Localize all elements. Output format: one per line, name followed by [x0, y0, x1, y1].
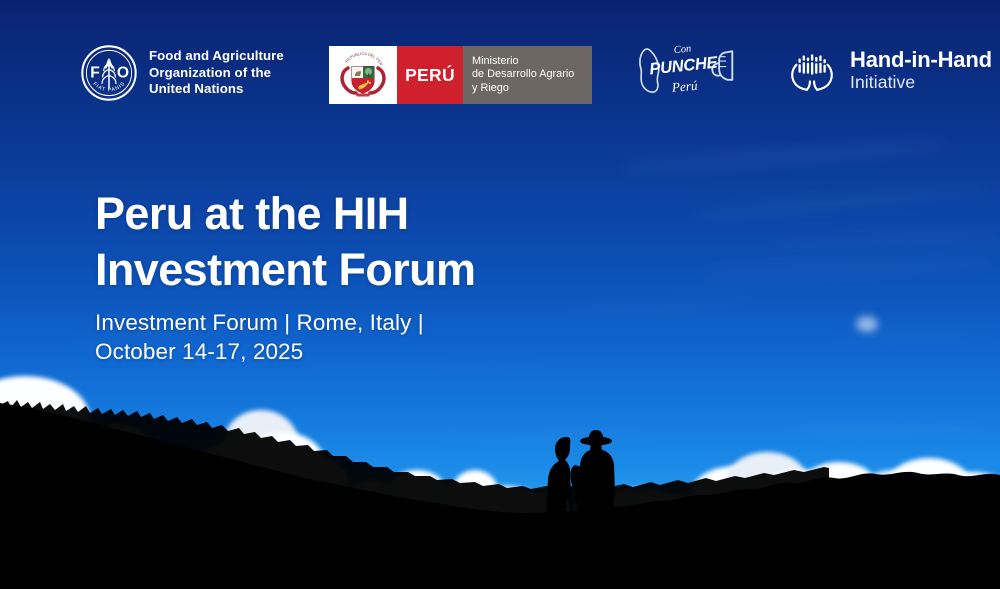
hero-text-block: Peru at the HIH Investment Forum Investm…: [95, 186, 655, 366]
punche-line3: Perú: [670, 78, 698, 95]
poster-banner: F A O FIAT PANIS Food and Agriculture Or…: [0, 0, 1000, 589]
svg-text:A: A: [104, 56, 113, 71]
page-title: Peru at the HIH Investment Forum: [95, 186, 655, 298]
peru-coat-of-arms: REPUBLICA DEL PERU: [335, 50, 391, 100]
logo-con-punche-peru[interactable]: Con PUNCHE Perú: [630, 38, 740, 104]
con-punche-peru-mark: Con PUNCHE Perú: [630, 38, 740, 104]
svg-text:O: O: [117, 65, 129, 82]
silhouette-person-with-bag: [539, 437, 574, 551]
silhouette-figures: [0, 389, 1000, 589]
logo-minagri[interactable]: REPUBLICA DEL PERU: [329, 46, 592, 104]
logo-fao[interactable]: F A O FIAT PANIS Food and Agriculture Or…: [80, 44, 284, 102]
minagri-country-label: PERÚ: [397, 46, 463, 104]
punche-line2: PUNCHE: [649, 53, 720, 78]
svg-text:F: F: [90, 65, 100, 82]
silhouette-person-with-hat: [570, 430, 620, 557]
peru-coat-of-arms-wrap: REPUBLICA DEL PERU: [329, 46, 397, 104]
fao-name-text: Food and Agriculture Organization of the…: [149, 48, 284, 97]
minagri-ministry-label: Ministerio de Desarrollo Agrario y Riego: [463, 46, 592, 104]
hands-holding-bars-icon: [786, 44, 838, 96]
logo-bar: F A O FIAT PANIS Food and Agriculture Or…: [0, 0, 1000, 140]
hih-text-lockup: Hand-in-Hand Initiative: [850, 48, 992, 93]
hih-title: Hand-in-Hand: [850, 48, 992, 72]
logo-hand-in-hand[interactable]: Hand-in-Hand Initiative: [786, 44, 992, 96]
fao-emblem: F A O FIAT PANIS: [80, 44, 138, 102]
svg-text:REPUBLICA DEL PERU: REPUBLICA DEL PERU: [335, 50, 383, 66]
hih-subtitle: Initiative: [850, 72, 992, 93]
punche-line1: Con: [673, 43, 691, 56]
event-details: Investment Forum | Rome, Italy | October…: [95, 308, 655, 366]
